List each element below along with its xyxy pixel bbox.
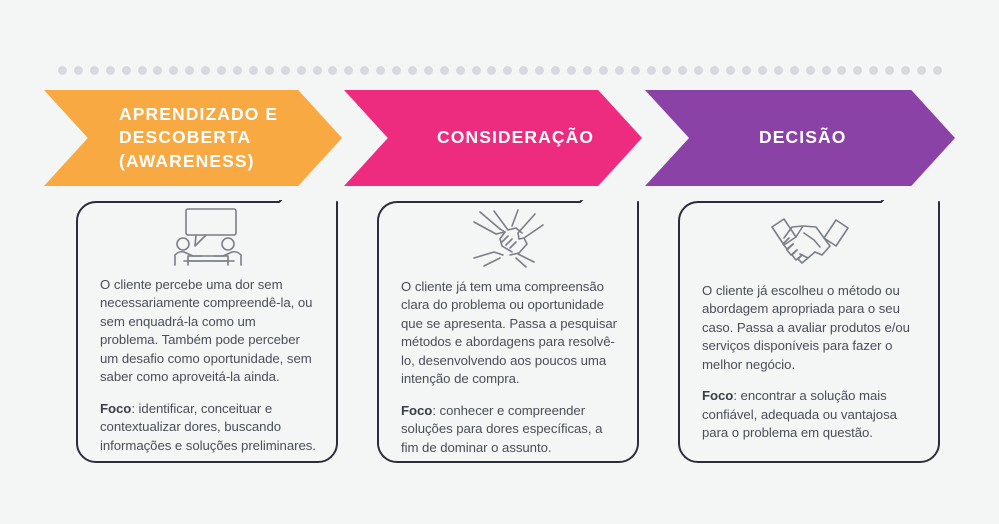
handshake-icon xyxy=(702,208,918,272)
stage-card-consideration: O cliente já tem uma compreensão clara d… xyxy=(377,200,639,463)
card-text-consideration: O cliente já tem uma compreensão clara d… xyxy=(401,278,617,457)
card-focus: Foco: identificar, conceituar e contextu… xyxy=(100,400,316,455)
card-description: O cliente já tem uma compreensão clara d… xyxy=(401,278,617,389)
card-text-awareness: O cliente percebe uma dor sem necessaria… xyxy=(100,276,316,455)
card-text-decision: O cliente já escolheu o método ou aborda… xyxy=(702,282,918,443)
conversation-table-icon xyxy=(100,208,316,266)
stage-card-decision: O cliente já escolheu o método ou aborda… xyxy=(678,200,940,463)
card-focus: Foco: encontrar a solução mais confiável… xyxy=(702,387,918,442)
card-focus-label: Foco xyxy=(702,388,733,403)
stage-card-awareness: O cliente percebe uma dor sem necessaria… xyxy=(76,200,338,463)
card-content-decision: O cliente já escolheu o método ou aborda… xyxy=(678,200,940,463)
card-content-awareness: O cliente percebe uma dor sem necessaria… xyxy=(76,200,338,463)
card-focus: Foco: conhecer e compreender soluções pa… xyxy=(401,402,617,457)
card-description: O cliente percebe uma dor sem necessaria… xyxy=(100,276,316,387)
card-content-consideration: O cliente já tem uma compreensão clara d… xyxy=(377,200,639,463)
card-description: O cliente já escolheu o método ou aborda… xyxy=(702,282,918,374)
stage-cards: O cliente percebe uma dor sem necessaria… xyxy=(0,0,999,524)
infographic-stage: Aprendizado e Descoberta (Awareness) Con… xyxy=(0,0,999,524)
card-focus-label: Foco xyxy=(100,401,131,416)
card-focus-text: : identificar, conceituar e contextualiz… xyxy=(100,401,316,453)
teamwork-hands-icon xyxy=(401,208,617,268)
card-focus-label: Foco xyxy=(401,403,432,418)
card-focus-text: : conhecer e compreender soluções para d… xyxy=(401,403,602,455)
